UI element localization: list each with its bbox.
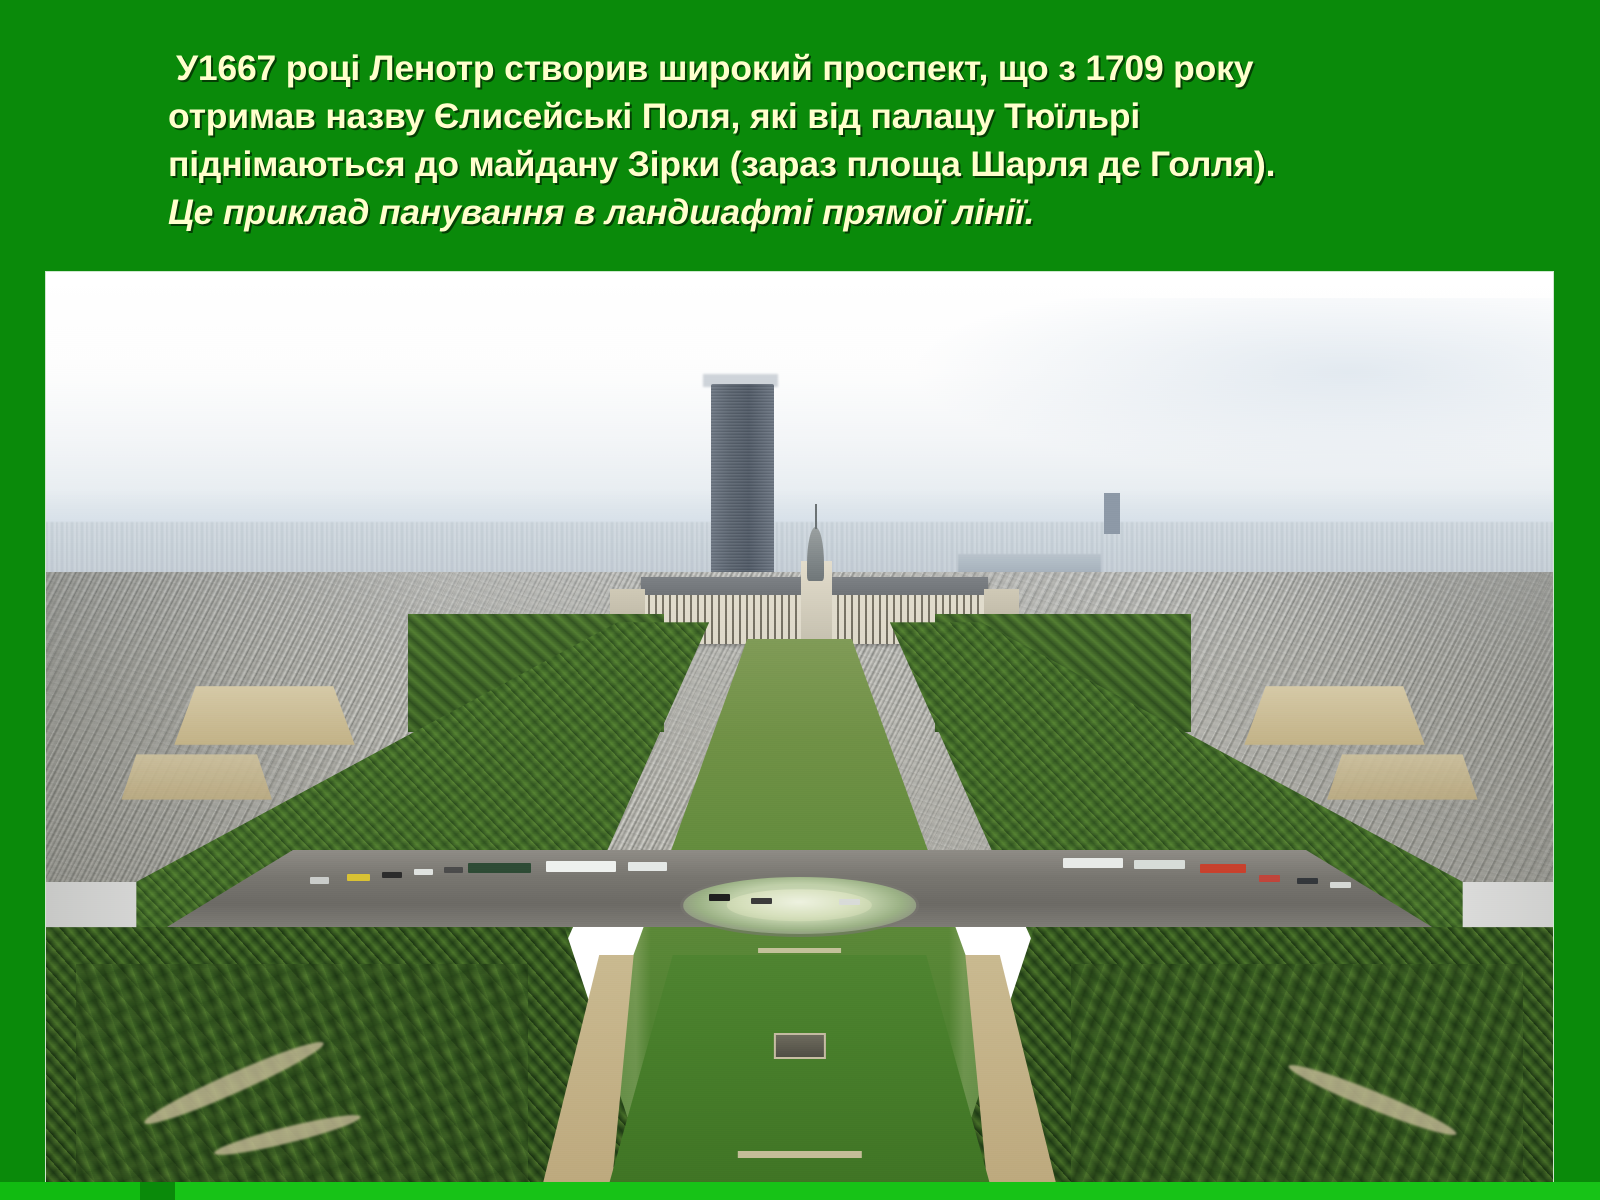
car xyxy=(444,867,464,873)
bus xyxy=(1134,860,1185,869)
car xyxy=(310,877,330,883)
car xyxy=(1330,882,1351,888)
photo-frame xyxy=(46,272,1553,1182)
bottom-strip-segment-gap xyxy=(140,1182,175,1200)
montparnasse-tower xyxy=(711,384,774,589)
bus xyxy=(1200,864,1245,873)
slide: У1667 році Ленотр створив широкий проспе… xyxy=(0,0,1600,1200)
caption-line-4: Це приклад панування в ландшафті прямої … xyxy=(168,188,1440,236)
car xyxy=(1297,878,1318,884)
car xyxy=(347,874,370,880)
bus xyxy=(1063,858,1123,868)
clearing-left xyxy=(174,686,355,745)
secondary-tower xyxy=(1104,493,1121,534)
bus xyxy=(546,861,615,872)
bottom-strip xyxy=(0,1182,1600,1200)
clearing-left-lower xyxy=(121,754,272,800)
car xyxy=(751,898,772,904)
bottom-strip-segment-main xyxy=(175,1182,1600,1200)
caption-line-3: піднімаються до майдану Зірки (зараз пло… xyxy=(168,140,1440,188)
car xyxy=(839,899,860,905)
bus xyxy=(468,863,531,873)
caption-line-2: отримав назву Єлисейські Поля, які від п… xyxy=(168,92,1440,140)
roundabout xyxy=(683,877,917,933)
orchard-grid-left xyxy=(76,964,528,1182)
car xyxy=(709,894,730,900)
bus xyxy=(628,862,667,871)
aerial-photo-champ-de-mars xyxy=(46,272,1553,1182)
clearing-right-lower xyxy=(1327,754,1478,800)
foreground-cross-path xyxy=(737,1151,861,1158)
car xyxy=(382,872,402,878)
car xyxy=(414,869,434,875)
slide-caption: У1667 році Ленотр створив широкий проспе… xyxy=(168,44,1440,236)
car xyxy=(1259,875,1280,881)
bottom-strip-segment-left xyxy=(0,1182,140,1200)
clearing-right xyxy=(1244,686,1425,745)
roundabout-island xyxy=(727,890,872,922)
caption-line-1: У1667 році Ленотр створив широкий проспе… xyxy=(168,44,1440,92)
lawn-monument xyxy=(773,1033,825,1059)
